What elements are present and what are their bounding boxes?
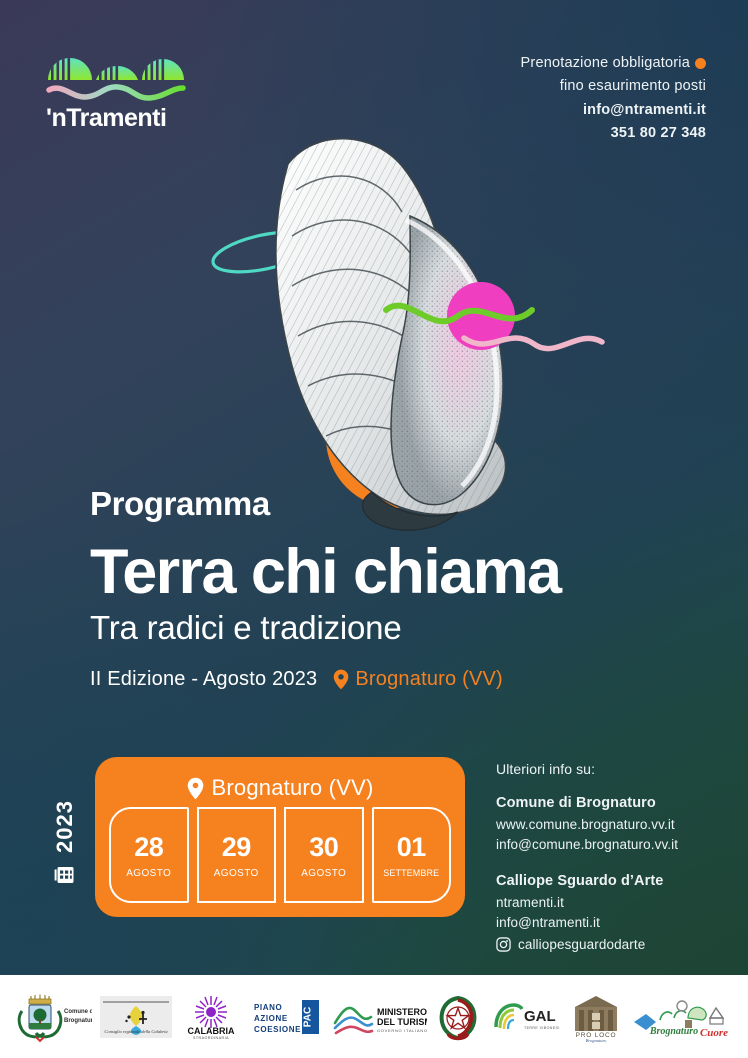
- date-card: Brognaturo (VV) 28 AGOSTO 29 AGOSTO 30 A…: [95, 757, 465, 917]
- brand-name: 'nTramenti: [46, 106, 196, 131]
- info-group-comune: Comune di Brognaturo www.comune.brognatu…: [496, 793, 726, 854]
- ministero-del-turismo-logo: MINISTERO DEL TURISMO GOVERNO ITALIANO: [331, 995, 427, 1039]
- title-block: Programma Terra chi chiama Tra radici e …: [90, 486, 690, 691]
- pro-loco-logo: PRO LOCO Brognaturo: [569, 991, 623, 1043]
- comune-di-brognaturo-logo: Comune di Brognaturo: [14, 991, 92, 1043]
- booking-line-1: Prenotazione obbligatoria: [521, 52, 706, 75]
- card-place-label: Brognaturo (VV): [212, 775, 374, 801]
- edition-line: II Edizione - Agosto 2023 Brognaturo (VV…: [90, 668, 690, 691]
- info-column: Ulteriori info su: Comune di Brognaturo …: [496, 760, 726, 954]
- info-email[interactable]: info@ntramenti.it: [496, 913, 726, 932]
- event-title: Terra chi chiama: [90, 540, 690, 604]
- svg-text:PIANO: PIANO: [254, 1003, 282, 1012]
- svg-text:GAL: GAL: [524, 1008, 556, 1025]
- card-place-line: Brognaturo (VV): [109, 769, 451, 807]
- date-month: SETTEMBRE: [383, 868, 439, 878]
- svg-text:DEL TURISMO: DEL TURISMO: [377, 1017, 427, 1027]
- info-website[interactable]: ntramenti.it: [496, 893, 726, 912]
- date-box[interactable]: 01 SETTEMBRE: [372, 807, 452, 903]
- brand-logo: 'nTramenti: [46, 50, 196, 131]
- programma-kicker: Programma: [90, 486, 690, 522]
- piano-azione-coesione-pac-logo: PIANO AZIONE COESIONE PAC: [250, 995, 324, 1039]
- svg-text:AZIONE: AZIONE: [254, 1014, 288, 1023]
- gal-logo: GAL TERRE VIBONESI: [490, 995, 562, 1039]
- header-email[interactable]: info@ntramenti.it: [521, 99, 706, 122]
- info-title: Comune di Brognaturo: [496, 793, 726, 814]
- date-month: AGOSTO: [214, 868, 259, 879]
- footer-logo-bar: Comune di Brognaturo Consiglio regionale…: [0, 975, 748, 1058]
- edition-text: II Edizione - Agosto 2023: [90, 668, 317, 691]
- location-pin-icon: [187, 777, 204, 800]
- edition-place: Brognaturo (VV): [355, 668, 503, 691]
- orange-dot-icon: [695, 58, 706, 69]
- svg-text:STRAORDINARIA: STRAORDINARIA: [193, 1036, 229, 1040]
- calendar-icon: [53, 863, 77, 887]
- date-day: 30: [309, 834, 338, 861]
- calabria-logo: CALABRIA STRAORDINARIA: [180, 992, 242, 1042]
- svg-text:TERRE VIBONESI: TERRE VIBONESI: [524, 1026, 560, 1030]
- info-title: Calliope Sguardo d’Arte: [496, 871, 726, 892]
- date-day: 28: [134, 834, 163, 861]
- svg-text:Cuore: Cuore: [700, 1027, 728, 1039]
- ntramenti-hills-wave-logo: [46, 50, 186, 102]
- svg-text:Comune di: Comune di: [64, 1009, 92, 1015]
- poster: 'nTramenti Prenotazione obbligatoria fin…: [0, 0, 748, 1058]
- date-row: 28 AGOSTO 29 AGOSTO 30 AGOSTO 01 SETTEMB…: [109, 807, 451, 903]
- date-month: AGOSTO: [126, 868, 171, 879]
- info-group-calliope: Calliope Sguardo d’Arte ntramenti.it inf…: [496, 871, 726, 954]
- svg-text:Brognaturo: Brognaturo: [64, 1018, 92, 1024]
- svg-text:CALABRIA: CALABRIA: [188, 1026, 235, 1036]
- info-lead: Ulteriori info su:: [496, 760, 726, 780]
- instagram-line[interactable]: calliopesguardodarte: [496, 935, 726, 954]
- date-box[interactable]: 30 AGOSTO: [284, 807, 364, 903]
- svg-text:COESIONE: COESIONE: [254, 1025, 301, 1034]
- date-month: AGOSTO: [301, 868, 346, 879]
- seashell-illustration: [196, 120, 626, 540]
- date-day: 29: [222, 834, 251, 861]
- date-box[interactable]: 28 AGOSTO: [109, 807, 189, 903]
- date-box[interactable]: 29 AGOSTO: [197, 807, 277, 903]
- instagram-handle: calliopesguardodarte: [518, 935, 645, 954]
- svg-text:PAC: PAC: [302, 1006, 313, 1026]
- repubblica-italiana-emblem: [434, 992, 482, 1042]
- brognaturo-cuore-logo: Brognaturo Cuore: [630, 992, 734, 1042]
- consiglio-regionale-calabria-logo: Consiglio regionale della Calabria: [99, 992, 173, 1042]
- event-subtitle: Tra radici e tradizione: [90, 609, 690, 647]
- location-pin-icon: [333, 669, 349, 690]
- year-label: 2023: [52, 800, 78, 853]
- svg-text:GOVERNO ITALIANO: GOVERNO ITALIANO: [377, 1028, 427, 1033]
- svg-text:Consiglio regionale della Cala: Consiglio regionale della Calabria: [104, 1029, 168, 1034]
- year-rail: 2023: [48, 800, 82, 887]
- info-email[interactable]: info@comune.brognaturo.vv.it: [496, 835, 726, 854]
- instagram-icon: [496, 937, 511, 952]
- svg-text:Brognaturo: Brognaturo: [649, 1026, 698, 1037]
- svg-text:MINISTERO: MINISTERO: [377, 1007, 427, 1017]
- date-day: 01: [397, 834, 426, 861]
- info-website[interactable]: www.comune.brognaturo.vv.it: [496, 815, 726, 834]
- booking-line-2: fino esaurimento posti: [521, 75, 706, 98]
- svg-text:Brognaturo: Brognaturo: [586, 1038, 607, 1043]
